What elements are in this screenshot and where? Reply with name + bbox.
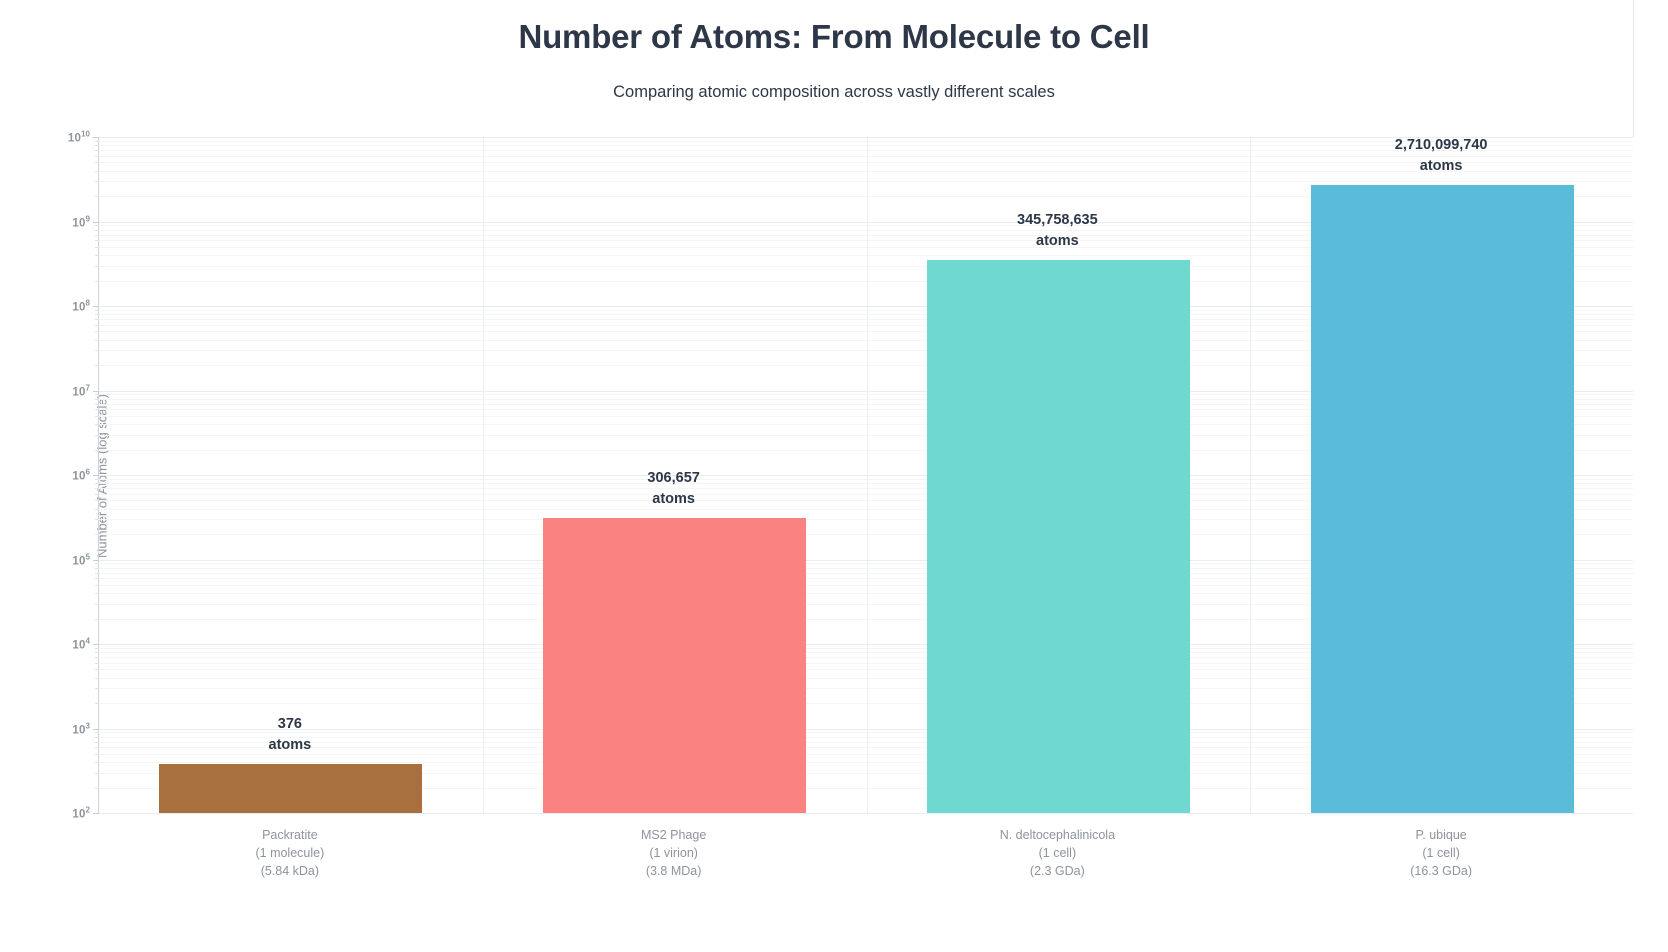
y-tick-exponent: 8: [86, 299, 90, 308]
tick-mark-minor: [95, 156, 99, 157]
y-tick-exponent: 10: [81, 130, 90, 139]
tick-mark-minor: [95, 350, 99, 351]
y-tick-exponent: 2: [86, 806, 90, 815]
tick-mark: [93, 222, 99, 223]
y-tick-exponent: 7: [86, 383, 90, 392]
tick-mark-minor: [95, 585, 99, 586]
tick-mark-minor: [95, 669, 99, 670]
chart-header: Number of Atoms: From Molecule to Cell C…: [0, 0, 1668, 102]
x-tick-label-p-ubique: P. ubique(1 cell)(16.3 GDa): [1291, 827, 1591, 880]
chart-figure: Number of Atoms: From Molecule to Cell C…: [0, 0, 1668, 952]
y-tick-mantissa: 10: [72, 386, 85, 398]
tick-mark-minor: [95, 754, 99, 755]
y-tick-mantissa: 10: [72, 301, 85, 313]
tick-mark-minor: [95, 394, 99, 395]
bar-value-label-ms2-phage: 306,657atoms: [534, 468, 814, 510]
bar-n-deltocephalinicola[interactable]: [927, 260, 1190, 813]
tick-mark-minor: [95, 314, 99, 315]
y-tick-label: 103: [72, 721, 90, 736]
bar-ms2-phage[interactable]: [543, 518, 806, 813]
tick-mark-minor: [95, 225, 99, 226]
y-tick-label: 107: [72, 383, 90, 398]
y-tick-exponent: 4: [86, 637, 90, 646]
tick-mark-minor: [95, 563, 99, 564]
tick-mark-minor: [95, 652, 99, 653]
bar-value-unit: atoms: [534, 489, 814, 510]
tick-mark-minor: [95, 604, 99, 605]
tick-mark-minor: [95, 788, 99, 789]
x-tick-label-n-deltocephalinicola: N. deltocephalinicola(1 cell)(2.3 GDa): [907, 827, 1207, 880]
x-tick-label-line-3: (5.84 kDa): [140, 863, 440, 881]
x-tick-label-line-3: (3.8 MDa): [524, 863, 824, 881]
tick-mark: [93, 137, 99, 138]
y-tick-exponent: 9: [86, 214, 90, 223]
tick-mark-minor: [95, 450, 99, 451]
tick-mark-minor: [95, 255, 99, 256]
tick-mark-minor: [95, 141, 99, 142]
tick-mark: [93, 391, 99, 392]
x-tick-label-ms2-phage: MS2 Phage(1 virion)(3.8 MDa): [524, 827, 824, 880]
bar-p-ubique[interactable]: [1311, 185, 1574, 813]
tick-mark-minor: [95, 494, 99, 495]
tick-mark-minor: [95, 325, 99, 326]
gridline-major: [99, 813, 1633, 814]
category-separator: [1250, 137, 1251, 813]
tick-mark-minor: [95, 196, 99, 197]
tick-mark-minor: [95, 747, 99, 748]
tick-mark-minor: [95, 409, 99, 410]
x-tick-label-line-1: P. ubique: [1291, 827, 1591, 845]
tick-mark: [93, 813, 99, 814]
chart-title: Number of Atoms: From Molecule to Cell: [0, 8, 1668, 57]
y-tick-label: 1010: [68, 130, 90, 145]
bar-value-label-packratite: 376atoms: [150, 714, 430, 756]
tick-mark-minor: [95, 162, 99, 163]
tick-mark-minor: [95, 235, 99, 236]
tick-mark-minor: [95, 619, 99, 620]
x-tick-label-line-2: (1 molecule): [140, 845, 440, 863]
tick-mark-minor: [95, 762, 99, 763]
tick-mark-minor: [95, 663, 99, 664]
tick-mark: [93, 475, 99, 476]
tick-mark-minor: [95, 365, 99, 366]
tick-mark-minor: [95, 181, 99, 182]
y-tick-label: 105: [72, 552, 90, 567]
bar-value-number: 306,657: [534, 468, 814, 489]
bar-value-unit: atoms: [917, 231, 1197, 252]
tick-mark-minor: [95, 488, 99, 489]
tick-mark-minor: [95, 578, 99, 579]
tick-mark-minor: [95, 331, 99, 332]
tick-mark-minor: [95, 150, 99, 151]
tick-mark-minor: [95, 266, 99, 267]
x-tick-label-line-2: (1 cell): [907, 845, 1207, 863]
tick-mark-minor: [95, 534, 99, 535]
tick-mark-minor: [95, 340, 99, 341]
tick-mark-minor: [95, 703, 99, 704]
x-tick-label-line-1: Packratite: [140, 827, 440, 845]
tick-mark-minor: [95, 509, 99, 510]
category-separator: [483, 137, 484, 813]
tick-mark: [93, 644, 99, 645]
bar-value-unit: atoms: [150, 735, 430, 756]
y-tick-label: 108: [72, 299, 90, 314]
bar-value-number: 2,710,099,740: [1301, 135, 1581, 156]
y-tick-label: 104: [72, 637, 90, 652]
tick-mark-minor: [95, 230, 99, 231]
y-tick-mantissa: 10: [72, 808, 85, 820]
tick-mark-minor: [95, 479, 99, 480]
bar-value-label-n-deltocephalinicola: 345,758,635atoms: [917, 210, 1197, 252]
tick-mark-minor: [95, 240, 99, 241]
tick-mark-minor: [95, 678, 99, 679]
tick-mark-minor: [95, 773, 99, 774]
y-tick-label: 106: [72, 468, 90, 483]
bar-value-number: 345,758,635: [917, 210, 1197, 231]
tick-mark-minor: [95, 424, 99, 425]
tick-mark-minor: [95, 500, 99, 501]
tick-mark-minor: [95, 399, 99, 400]
figure-right-edge: [1633, 0, 1634, 137]
tick-mark: [93, 560, 99, 561]
tick-mark-minor: [95, 688, 99, 689]
y-tick-mantissa: 10: [72, 639, 85, 651]
tick-mark-minor: [95, 145, 99, 146]
bar-packratite[interactable]: [159, 764, 422, 813]
tick-mark-minor: [95, 732, 99, 733]
tick-mark-minor: [95, 171, 99, 172]
tick-mark-minor: [95, 435, 99, 436]
y-tick-exponent: 3: [86, 721, 90, 730]
y-tick-mantissa: 10: [72, 555, 85, 567]
tick-mark-minor: [95, 593, 99, 594]
bar-value-unit: atoms: [1301, 156, 1581, 177]
tick-mark-minor: [95, 404, 99, 405]
x-tick-label-line-1: N. deltocephalinicola: [907, 827, 1207, 845]
chart-subtitle: Comparing atomic composition across vast…: [0, 57, 1668, 102]
x-tick-label-line-1: MS2 Phage: [524, 827, 824, 845]
x-tick-label-packratite: Packratite(1 molecule)(5.84 kDa): [140, 827, 440, 880]
y-tick-exponent: 5: [86, 552, 90, 561]
y-tick-label: 102: [72, 806, 90, 821]
x-tick-label-line-3: (16.3 GDa): [1291, 863, 1591, 881]
tick-mark-minor: [95, 519, 99, 520]
tick-mark-minor: [95, 281, 99, 282]
tick-mark: [93, 729, 99, 730]
tick-mark-minor: [95, 310, 99, 311]
x-tick-label-line-2: (1 virion): [524, 845, 824, 863]
y-tick-mantissa: 10: [72, 724, 85, 736]
tick-mark-minor: [95, 742, 99, 743]
x-tick-label-line-2: (1 cell): [1291, 845, 1591, 863]
tick-mark-minor: [95, 568, 99, 569]
tick-mark-minor: [95, 319, 99, 320]
y-tick-mantissa: 10: [72, 217, 85, 229]
tick-mark-minor: [95, 737, 99, 738]
tick-mark-minor: [95, 483, 99, 484]
tick-mark-minor: [95, 648, 99, 649]
plot-area: [98, 137, 1633, 813]
tick-mark-minor: [95, 247, 99, 248]
x-tick-label-line-3: (2.3 GDa): [907, 863, 1207, 881]
y-tick-mantissa: 10: [68, 132, 81, 144]
tick-mark: [93, 306, 99, 307]
bar-value-number: 376: [150, 714, 430, 735]
tick-mark-minor: [95, 416, 99, 417]
y-tick-exponent: 6: [86, 468, 90, 477]
category-separator: [867, 137, 868, 813]
tick-mark-minor: [95, 573, 99, 574]
y-tick-mantissa: 10: [72, 470, 85, 482]
tick-mark-minor: [95, 657, 99, 658]
y-tick-label: 109: [72, 214, 90, 229]
bar-value-label-p-ubique: 2,710,099,740atoms: [1301, 135, 1581, 177]
